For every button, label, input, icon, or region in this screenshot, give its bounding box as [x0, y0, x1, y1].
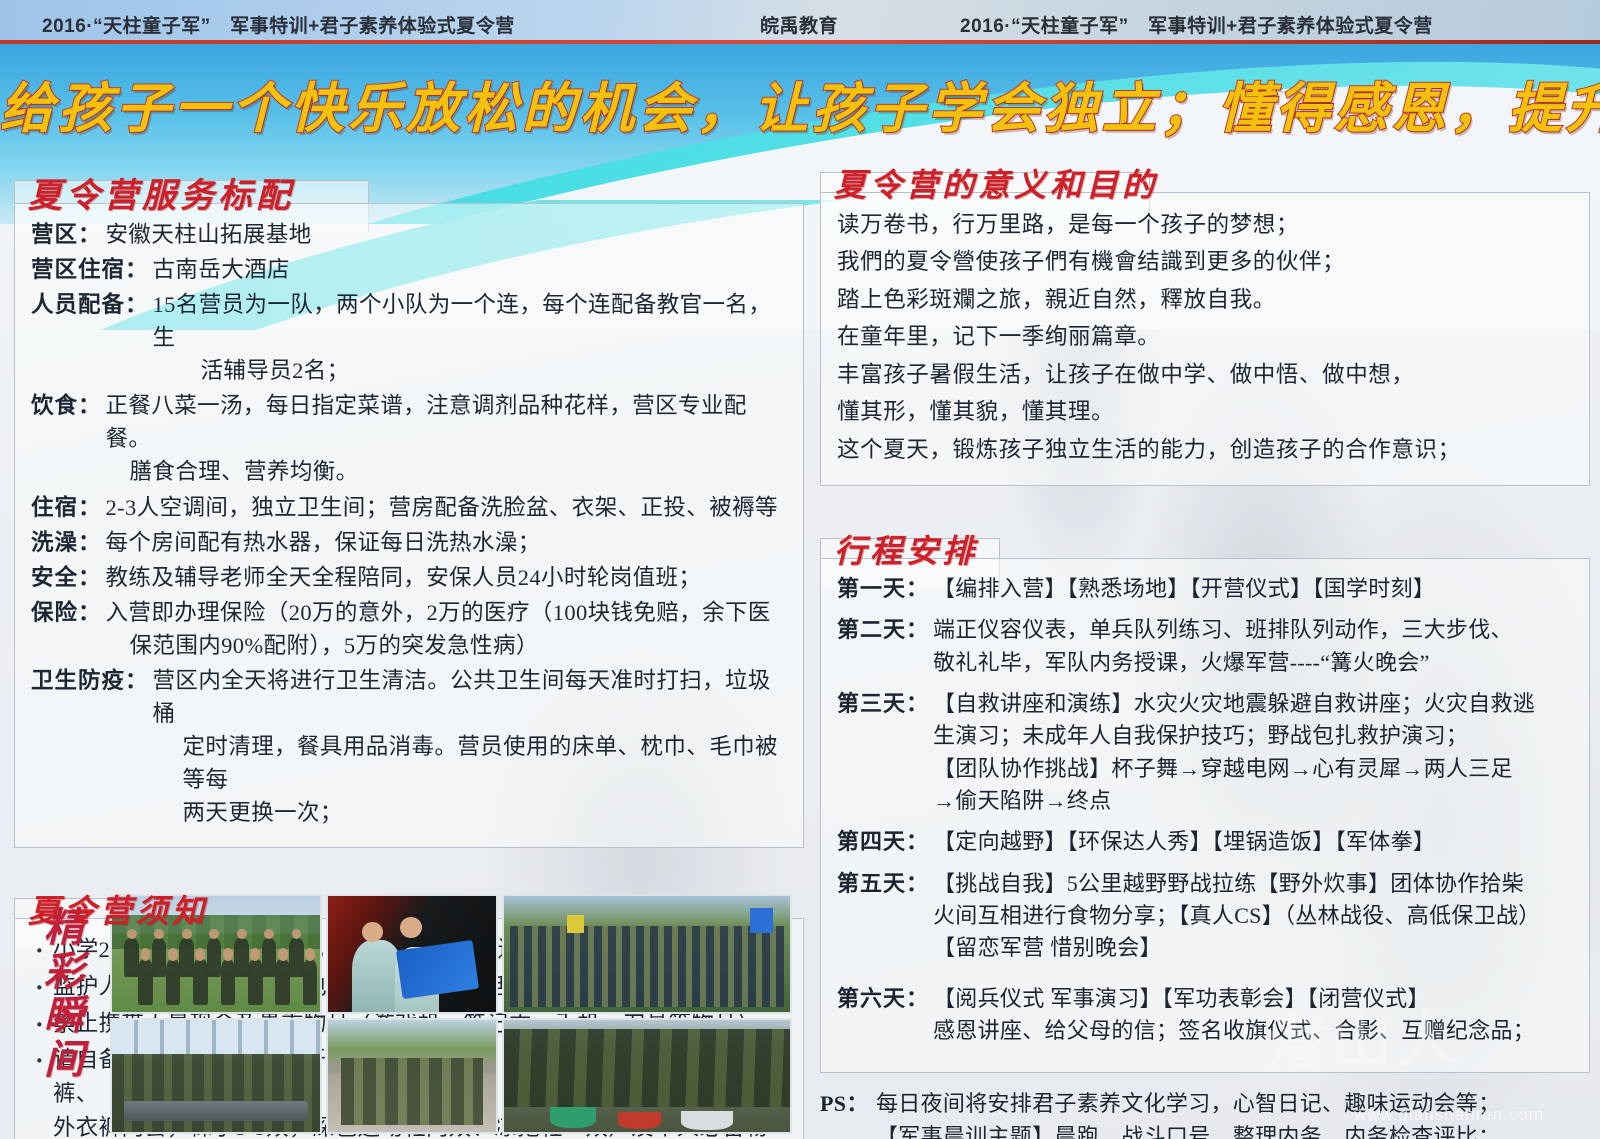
canteen-dining-photo [110, 1018, 322, 1134]
standard-row-key: 安全： [31, 561, 106, 594]
itinerary-day-text: 【挑战自我】5公里越野野战拉练【野外炊事】团体协作拾柴 火间互相进行食物分享；【… [933, 868, 1573, 965]
standard-heading: 夏令营服务标配 [14, 168, 804, 217]
purpose-section: 夏令营的意义和目的 读万卷书，行万里路，是每一个孩子的梦想； 我們的夏令營使孩子… [820, 160, 1590, 486]
right-column: 夏令营的意义和目的 读万卷书，行万里路，是每一个孩子的梦想； 我們的夏令營使孩子… [820, 160, 1590, 1139]
standard-row: 洗澡： 每个房间配有热水器，保证每日洗热水澡； [31, 526, 787, 559]
standard-definition-list: 营区： 安徽天柱山拓展基地 营区住宿： 古南岳大酒店 人员配备： [31, 218, 787, 829]
itinerary-ps: PS： 每日夜间将安排君子素养文化学习，心智日记、趣味运动会等； 【军事晨训主题… [820, 1087, 1590, 1139]
standard-row-value: 营区内全天将进行卫生清洁。公共卫生间每天准时打扫，垃圾桶 定时清理，餐具用品消毒… [153, 664, 787, 829]
standard-row: 保险： 入营即办理保险（20万的意外，2万的医疗（100块钱免赔，余下医 保范围… [31, 596, 787, 662]
standard-row-key: 人员配备： [31, 288, 153, 387]
standard-row-value: 15名营员为一队，两个小队为一个连，每个连配备教官一名，生 活辅导员2名； [153, 288, 787, 387]
gallery-label: 精 彩 瞬 间 [44, 906, 100, 1082]
hero-slogan: 给孩子一个快乐放松的机会，让孩子学会独立；懂得感恩，提升综合素质 [0, 64, 1600, 143]
itinerary-day: 第五天： 【挑战自我】5公里越野野战拉练【野外炊事】团体协作拾柴 火间互相进行食… [837, 868, 1573, 965]
standard-row-value: 每个房间配有热水器，保证每日洗热水澡； [106, 526, 787, 559]
purpose-heading: 夏令营的意义和目的 [820, 160, 1590, 206]
itinerary-day-text: 【定向越野】【环保达人秀】【埋锅造饭】【军体拳】 [933, 826, 1573, 858]
header-brand-middle: 皖禹教育 [760, 11, 838, 38]
itinerary-card: 第一天： 【编排入营】【熟悉场地】【开营仪式】【国学时刻】 第二天： 端正仪容仪… [820, 558, 1590, 1073]
purpose-text: 读万卷书，行万里路，是每一个孩子的梦想； 我們的夏令營使孩子們有機會结識到更多的… [837, 207, 1573, 468]
standard-row: 营区： 安徽天柱山拓展基地 [31, 218, 787, 251]
standard-row-key: 饮食： [31, 389, 106, 488]
itinerary-day: 第三天： 【自救讲座和演练】水灾火灾地震躲避自救讲座；火灾自救逃 生演习；未成年… [837, 688, 1573, 817]
notice-heading: 夏令营须知 [14, 886, 804, 932]
itinerary-day-text: 【阅兵仪式 军事演习】【军功表彰会】【闭营仪式】 感恩讲座、给父母的信；签名收旗… [933, 983, 1573, 1048]
purpose-line: 我們的夏令營使孩子們有機會结識到更多的伙伴； [837, 244, 1573, 280]
purpose-line: 读万卷书，行万里路，是每一个孩子的梦想； [837, 207, 1573, 243]
header-title-right: 2016·“天柱童子军” 军事特训+君子素养体验式夏令营 [960, 11, 1433, 38]
standard-row-key: 营区住宿： [31, 253, 153, 286]
purpose-line: 在童年里，记下一季绚丽篇章。 [837, 319, 1573, 355]
itinerary-day-label: 第四天： [837, 826, 933, 858]
itinerary-day-label: 第二天： [837, 614, 933, 679]
standard-row: 营区住宿： 古南岳大酒店 [31, 253, 787, 286]
outdoor-washing-photo [502, 1018, 792, 1134]
standard-row: 住宿： 2-3人空调间，独立卫生间；营房配备洗脸盆、衣架、正投、被褥等 [31, 491, 787, 524]
standard-section: 夏令营服务标配 营区： 安徽天柱山拓展基地 营区住宿： 古南岳大酒店 [14, 168, 804, 848]
standard-row-key: 住宿： [31, 491, 106, 524]
standard-row-value: 正餐八菜一汤，每日指定菜谱，注意调剂品种花样，营区专业配餐。 膳食合理、营养均衡… [106, 389, 787, 488]
standard-row: 安全： 教练及辅导老师全天全程陪同，安保人员24小时轮岗值班； [31, 561, 787, 594]
itinerary-day: 第六天： 【阅兵仪式 军事演习】【军功表彰会】【闭营仪式】 感恩讲座、给父母的信… [837, 983, 1573, 1048]
itinerary-day-label: 第三天： [837, 688, 933, 817]
itinerary-day: 第二天： 端正仪容仪表，单兵队列练习、班排队列动作，三大步伐、 敬礼礼毕，军队内… [837, 614, 1573, 679]
itinerary-heading: 行程安排 [820, 526, 1590, 572]
marching-line-photo [326, 1018, 498, 1134]
standard-row-value: 2-3人空调间，独立卫生间；营房配备洗脸盆、衣架、正投、被褥等 [106, 491, 787, 524]
itinerary-day-label: 第五天： [837, 868, 933, 965]
standard-row-key: 保险： [31, 596, 106, 662]
standard-row-value: 安徽天柱山拓展基地 [106, 218, 787, 251]
standard-card: 营区： 安徽天柱山拓展基地 营区住宿： 古南岳大酒店 人员配备： [14, 203, 804, 848]
standard-row-key: 卫生防疫： [31, 664, 153, 829]
standard-row-value: 入营即办理保险（20万的意外，2万的医疗（100块钱免赔，余下医 保范围内90%… [106, 596, 787, 662]
itinerary-day: 第一天： 【编排入营】【熟悉场地】【开营仪式】【国学时刻】 [837, 573, 1573, 605]
standard-row-key: 营区： [31, 218, 106, 251]
header-title-left: 2016·“天柱童子军” 军事特训+君子素养体验式夏令营 [42, 11, 515, 38]
itinerary-section: 行程安排 第一天： 【编排入营】【熟悉场地】【开营仪式】【国学时刻】 第二天： … [820, 526, 1590, 1073]
standard-row: 人员配备： 15名营员为一队，两个小队为一个连，每个连配备教官一名，生 活辅导员… [31, 288, 787, 387]
ps-text: 每日夜间将安排君子素养文化学习，心智日记、趣味运动会等； 【军事晨训主题】晨跑、… [876, 1087, 1545, 1139]
itinerary-day-label: 第一天： [837, 573, 933, 605]
itinerary-day-label: 第六天： [837, 983, 933, 1048]
ps-row: PS： 每日夜间将安排君子素养文化学习，心智日记、趣味运动会等； 【军事晨训主题… [820, 1087, 1590, 1139]
poster-root: 2016·“天柱童子军” 军事特训+君子素养体验式夏令营 皖禹教育 2016·“… [0, 0, 1600, 1139]
purpose-line: 这个夏天，锻炼孩子独立生活的能力，创造孩子的合作意识； [837, 432, 1573, 468]
purpose-line: 踏上色彩斑斕之旅，親近自然，釋放自我。 [837, 282, 1573, 318]
standard-row-value: 教练及辅导老师全天全程陪同，安保人员24小时轮岗值班； [106, 561, 787, 594]
purpose-line: 懂其形，懂其貌，懂其理。 [837, 394, 1573, 430]
ps-label: PS： [820, 1087, 876, 1139]
standard-row: 饮食： 正餐八菜一汤，每日指定菜谱，注意调剂品种花样，营区专业配餐。 膳食合理、… [31, 389, 787, 488]
purpose-line: 丰富孩子暑假生活，让孩子在做中学、做中悟、做中想， [837, 357, 1573, 393]
itinerary-list: 第一天： 【编排入营】【熟悉场地】【开营仪式】【国学时刻】 第二天： 端正仪容仪… [837, 573, 1573, 1047]
standard-row-key: 洗澡： [31, 526, 106, 559]
itinerary-day: 第四天： 【定向越野】【环保达人秀】【埋锅造饭】【军体拳】 [837, 826, 1573, 858]
page-header-bar: 2016·“天柱童子军” 军事特训+君子素养体验式夏令营 皖禹教育 2016·“… [0, 0, 1600, 44]
purpose-card: 读万卷书，行万里路，是每一个孩子的梦想； 我們的夏令營使孩子們有機會结識到更多的… [820, 192, 1590, 486]
itinerary-day-text: 【编排入营】【熟悉场地】【开营仪式】【国学时刻】 [933, 573, 1573, 605]
standard-row-value: 古南岳大酒店 [153, 253, 787, 286]
itinerary-day-text: 端正仪容仪表，单兵队列练习、班排队列动作，三大步伐、 敬礼礼毕，军队内务授课，火… [933, 614, 1573, 679]
standard-row: 卫生防疫： 营区内全天将进行卫生清洁。公共卫生间每天准时打扫，垃圾桶 定时清理，… [31, 664, 787, 829]
itinerary-day-text: 【自救讲座和演练】水灾火灾地震躲避自救讲座；火灾自救逃 生演习；未成年人自我保护… [933, 688, 1573, 817]
